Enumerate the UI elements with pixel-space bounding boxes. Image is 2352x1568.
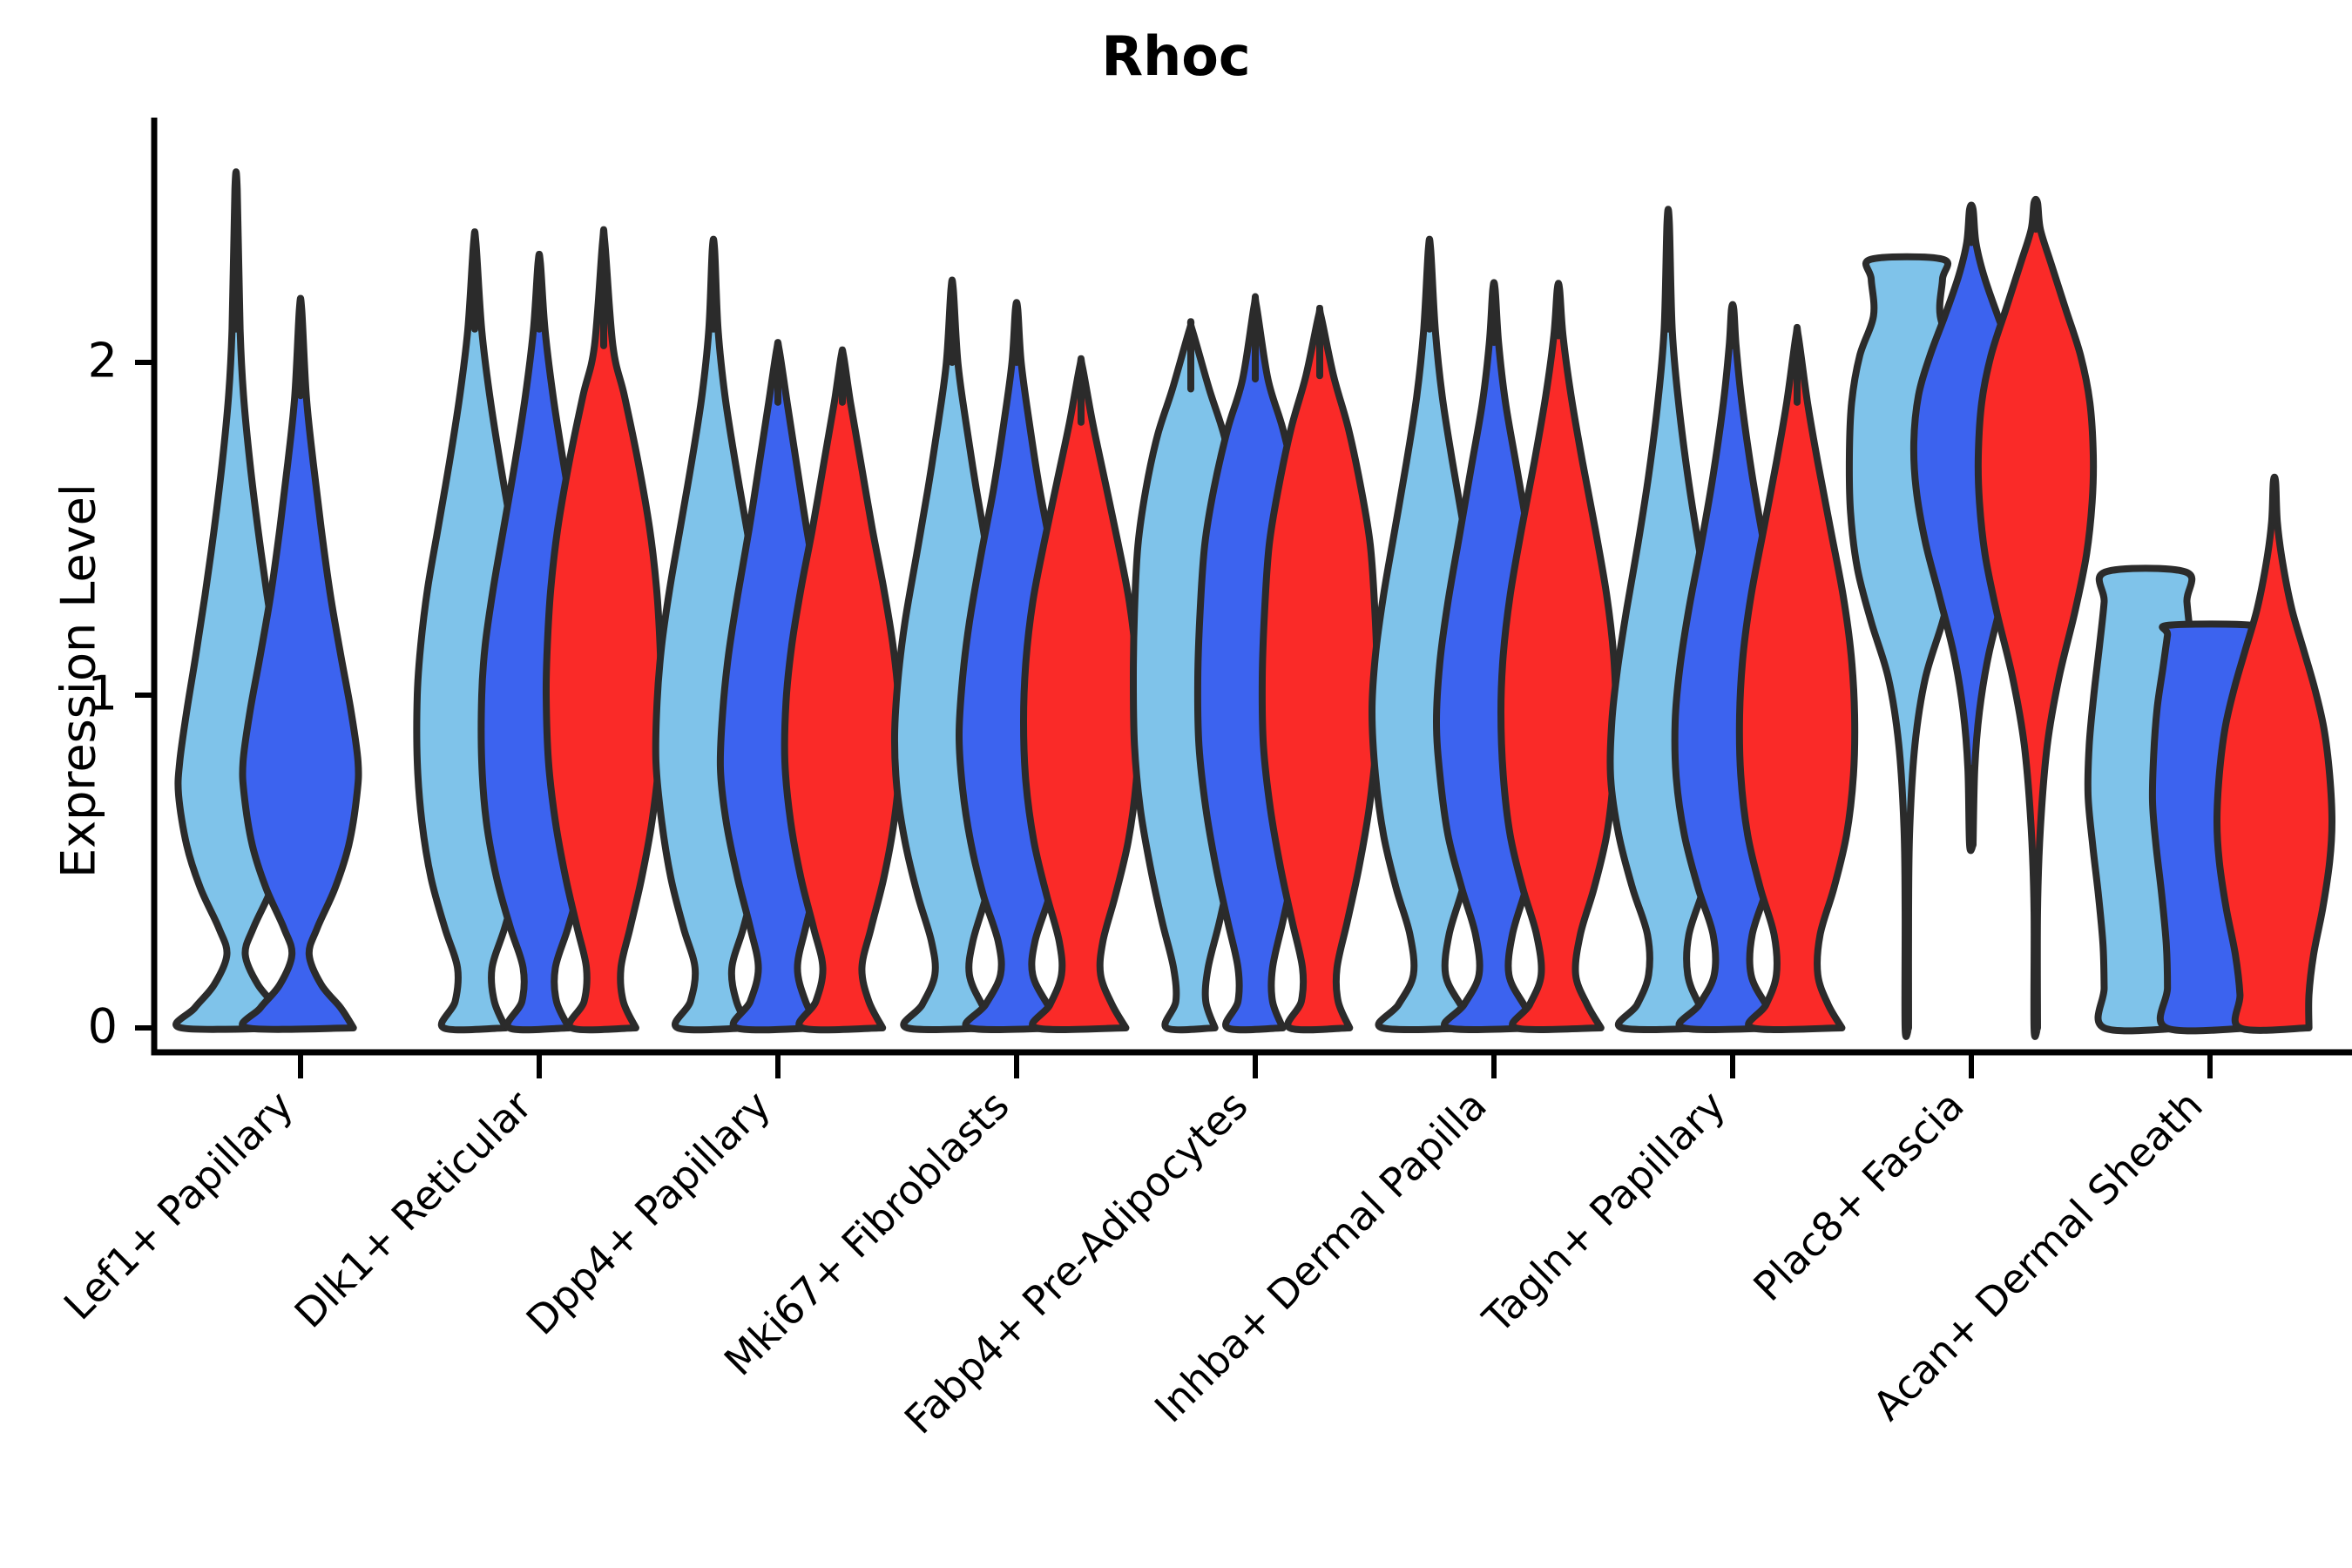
x-tick-label: Dlk1+ Reticular — [286, 1082, 541, 1337]
plot-canvas: 012 Lef1+ PapillaryDlk1+ ReticularDpp4+ … — [0, 0, 2352, 1568]
x-tick-label: Lef1+ Papillary — [55, 1082, 302, 1329]
x-tick-label: Dpp4+ Papillary — [517, 1082, 780, 1344]
x-tick-label: Plac8+ Fascia — [1744, 1082, 1972, 1310]
violin-plot-figure: Rhoc Expression Level 012 Lef1+ Papillar… — [0, 0, 2352, 1568]
x-tick-labels: Lef1+ PapillaryDlk1+ ReticularDpp4+ Papi… — [55, 1082, 2212, 1443]
x-tick-label: Tagln+ Papillary — [1473, 1082, 1734, 1343]
violin-shape — [2217, 477, 2332, 1031]
y-tick-labels: 012 — [88, 334, 118, 1054]
y-tick-label: 1 — [88, 666, 118, 721]
violins-layer — [176, 172, 2332, 1037]
y-tick-label: 2 — [88, 334, 118, 389]
y-tick-label: 0 — [88, 999, 118, 1054]
